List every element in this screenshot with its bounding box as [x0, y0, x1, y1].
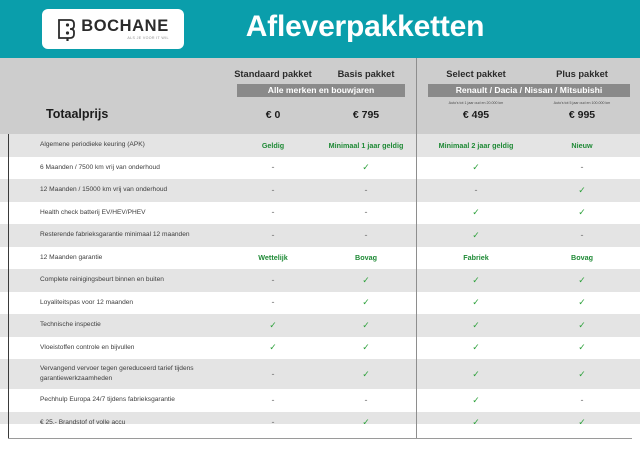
column-subtext-select: Auto's tot 1 jaar oud en 20.000 km — [424, 101, 528, 105]
feature-label: Resterende fabrieksgarantie minimaal 12 … — [40, 230, 230, 240]
bottom-rule — [8, 438, 632, 439]
table-row: Resterende fabrieksgarantie minimaal 12 … — [0, 224, 640, 247]
cell-select: ✓ — [424, 208, 528, 217]
total-price-label: Totaalprijs — [46, 107, 108, 121]
feature-label: 6 Maanden / 7500 km vrij van onderhoud — [40, 163, 230, 173]
total-price-plus: € 995 — [530, 109, 634, 121]
feature-label: Vervangend vervoer tegen gereduceerd tar… — [40, 364, 220, 384]
total-price-basis: € 795 — [318, 109, 414, 121]
cell-standaard: - — [228, 208, 318, 217]
feature-label: 12 Maanden garantie — [40, 253, 230, 263]
cell-select: Minimaal 2 jaar geldig — [424, 141, 528, 150]
cell-basis: Minimaal 1 jaar geldig — [318, 141, 414, 150]
cell-standaard: - — [228, 186, 318, 195]
table-row: Technische inspectie✓✓✓✓ — [0, 314, 640, 337]
cell-basis: ✓ — [318, 163, 414, 172]
feature-label: Vloeistoffen controle en bijvullen — [40, 343, 230, 353]
cell-plus: ✓ — [530, 321, 634, 330]
cell-standaard: - — [228, 276, 318, 285]
cell-plus: Nieuw — [530, 141, 634, 150]
cell-select: ✓ — [424, 276, 528, 285]
table-row: Vloeistoffen controle en bijvullen✓✓✓✓ — [0, 337, 640, 360]
table-row: 6 Maanden / 7500 km vrij van onderhoud-✓… — [0, 157, 640, 180]
comparison-table: Algemene periodieke keuring (APK)GeldigM… — [0, 134, 640, 434]
cell-basis: - — [318, 208, 414, 217]
group-banner-renault-dacia-nissan-mitsubishi: Renault / Dacia / Nissan / Mitsubishi — [428, 84, 630, 97]
cell-basis: ✓ — [318, 321, 414, 330]
feature-label: Health check batterij EV/HEV/PHEV — [40, 208, 230, 218]
table-row: Pechhulp Europa 24/7 tijdens fabrieksgar… — [0, 389, 640, 412]
cell-select: ✓ — [424, 163, 528, 172]
cell-standaard: - — [228, 231, 318, 240]
cell-select: ✓ — [424, 321, 528, 330]
cell-basis: ✓ — [318, 276, 414, 285]
cell-plus: - — [530, 396, 634, 405]
cell-plus: ✓ — [530, 298, 634, 307]
page-title: Afleverpakketten — [0, 10, 640, 44]
column-subtext-plus: Auto's tot 5 jaar oud en 100.000 km — [530, 101, 634, 105]
cell-select: ✓ — [424, 343, 528, 352]
column-header-basis: Basis pakket — [318, 69, 414, 79]
cell-plus: ✓ — [530, 276, 634, 285]
feature-label: 12 Maanden / 15000 km vrij van onderhoud — [40, 185, 230, 195]
cell-plus: - — [530, 231, 634, 240]
table-row: Algemene periodieke keuring (APK)GeldigM… — [0, 134, 640, 157]
cell-basis: Bovag — [318, 253, 414, 262]
table-row: Health check batterij EV/HEV/PHEV--✓✓ — [0, 202, 640, 225]
feature-label: Algemene periodieke keuring (APK) — [40, 140, 230, 150]
feature-label: Complete reinigingsbeurt binnen en buite… — [40, 275, 230, 285]
cell-select: ✓ — [424, 231, 528, 240]
cell-select: ✓ — [424, 370, 528, 379]
cell-standaard: Geldig — [228, 141, 318, 150]
cell-plus: ✓ — [530, 343, 634, 352]
cell-standaard: - — [228, 396, 318, 405]
cell-basis: - — [318, 186, 414, 195]
feature-label: Technische inspectie — [40, 320, 230, 330]
table-row: 12 Maanden garantieWettelijkBovagFabriek… — [0, 247, 640, 270]
cell-standaard: ✓ — [228, 343, 318, 352]
page-header: BOCHANE ALS JE VOOR IT WIL Afleverpakket… — [0, 0, 640, 58]
cell-plus: Bovag — [530, 253, 634, 262]
cell-standaard: - — [228, 163, 318, 172]
cell-select: Fabriek — [424, 253, 528, 262]
total-price-standaard: € 0 — [228, 109, 318, 121]
cell-basis: ✓ — [318, 370, 414, 379]
cell-select: ✓ — [424, 298, 528, 307]
group-banner-all-brands: Alle merken en bouwjaren — [237, 84, 405, 97]
cell-standaard: - — [228, 298, 318, 307]
cell-standaard: - — [228, 370, 318, 379]
left-edge-rule — [8, 134, 9, 439]
cell-basis: ✓ — [318, 298, 414, 307]
cell-plus: ✓ — [530, 186, 634, 195]
column-header-band: Standaard pakket Basis pakket Select pak… — [0, 58, 640, 134]
afleverpakketten-page: BOCHANE ALS JE VOOR IT WIL Afleverpakket… — [0, 0, 640, 453]
cell-plus: - — [530, 163, 634, 172]
table-row: Loyaliteitspas voor 12 maanden-✓✓✓ — [0, 292, 640, 315]
cell-basis: ✓ — [318, 343, 414, 352]
cell-select: ✓ — [424, 396, 528, 405]
cell-basis: - — [318, 231, 414, 240]
vertical-group-divider — [416, 58, 417, 439]
cell-select: - — [424, 186, 528, 195]
table-row: Complete reinigingsbeurt binnen en buite… — [0, 269, 640, 292]
column-header-plus: Plus pakket — [530, 69, 634, 79]
table-row: Vervangend vervoer tegen gereduceerd tar… — [0, 359, 640, 389]
total-price-select: € 495 — [424, 109, 528, 121]
feature-label: Pechhulp Europa 24/7 tijdens fabrieksgar… — [40, 395, 230, 405]
cell-basis: - — [318, 396, 414, 405]
cell-plus: ✓ — [530, 370, 634, 379]
feature-label: Loyaliteitspas voor 12 maanden — [40, 298, 230, 308]
cell-standaard: ✓ — [228, 321, 318, 330]
column-header-select: Select pakket — [424, 69, 528, 79]
table-row: 12 Maanden / 15000 km vrij van onderhoud… — [0, 179, 640, 202]
column-header-standaard: Standaard pakket — [228, 69, 318, 79]
cell-standaard: Wettelijk — [228, 253, 318, 262]
cell-plus: ✓ — [530, 208, 634, 217]
